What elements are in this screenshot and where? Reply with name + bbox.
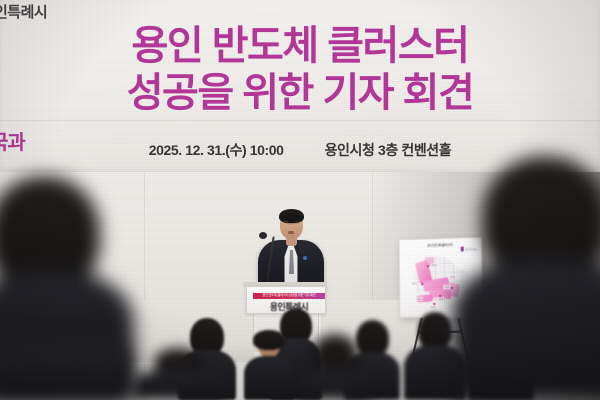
banner-datetime: 2025. 12. 31.(수) 10:00 [149, 142, 284, 158]
audience-member [244, 330, 294, 400]
banner-location: 용인시청 3층 컨벤션홀 [325, 142, 452, 158]
speaker-eye-right [295, 221, 299, 223]
map-pin [421, 283, 423, 285]
speaker-eye-left [284, 221, 288, 223]
banner-title-line-2: 성공을 위한 기자 회견 [0, 69, 600, 118]
podium-strip-text: 용인 반도체 클러스터 성공을 위한 기자 회견 [253, 292, 325, 299]
audience-shoulders [296, 370, 372, 400]
map-label: 원삼면 [437, 297, 444, 301]
map-pin [427, 265, 429, 267]
map-label: 처인구 [431, 263, 438, 267]
press-conference-photo: 인특례시 국과 용인 반도체 클러스터 성공을 위한 기자 회견 2025. 1… [0, 0, 600, 400]
foreground-person-right [452, 156, 600, 400]
speaker-lapel-badge [303, 256, 307, 260]
speaker-hair-shadow [278, 214, 305, 225]
map-label: 남사읍 [416, 297, 423, 301]
foreground-person-lower-left [0, 340, 130, 400]
foreground-shoulders [0, 340, 130, 400]
map-label: 기흥구 [411, 281, 418, 285]
microphone-head-icon [259, 232, 267, 239]
banner-fold [0, 120, 600, 121]
audience-member [296, 334, 372, 400]
banner-title: 용인 반도체 클러스터 성공을 위한 기자 회견 [0, 22, 600, 118]
banner-title-line-1: 용인 반도체 클러스터 [0, 22, 600, 71]
audience-head [253, 330, 285, 350]
map-label: 수지구 [443, 285, 450, 289]
banner-corner-text-top-left: 인특례시 [0, 1, 47, 22]
audience-member [132, 348, 224, 400]
audience-shoulders [132, 370, 224, 400]
foreground-shoulders [452, 260, 600, 400]
audience-shoulders [244, 356, 294, 400]
speaker-mouth [288, 231, 294, 234]
map-label: 이동읍 [429, 305, 436, 309]
